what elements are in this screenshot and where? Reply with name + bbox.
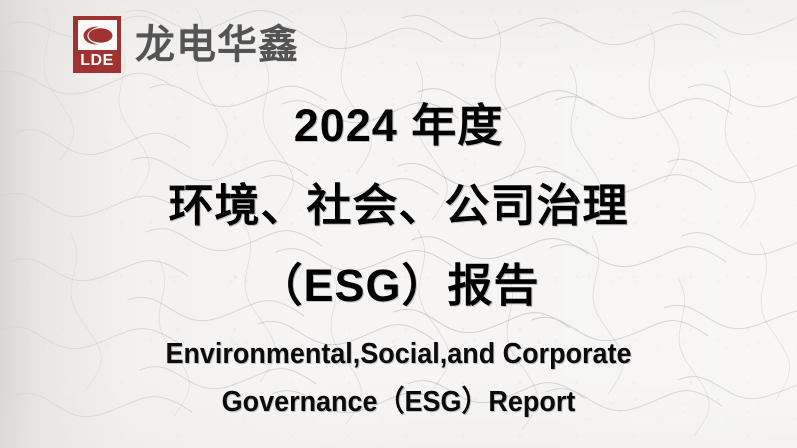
title-line-3: （ESG）报告 [0, 246, 797, 326]
title-line-2: 环境、社会、公司治理 [0, 166, 797, 246]
title-line-1: 2024 年度 [0, 86, 797, 166]
company-logo: LDE 龙电华鑫 [73, 16, 299, 73]
swoosh-oval-icon [81, 24, 114, 46]
logo-mark-panel [78, 20, 117, 50]
subtitle-line-1: Environmental,Social,and Corporate [28, 330, 769, 378]
page-title: 2024 年度 环境、社会、公司治理 （ESG）报告 [0, 86, 797, 326]
report-cover-page: LDE 龙电华鑫 2024 年度 环境、社会、公司治理 （ESG）报告 Envi… [0, 0, 797, 448]
subtitle-line-2: Governance（ESG）Report [28, 378, 769, 426]
logo-mark-text: LDE [80, 50, 114, 72]
page-subtitle: Environmental,Social,and Corporate Gover… [0, 330, 797, 426]
logo-mark: LDE [73, 16, 121, 73]
logo-wordmark: 龙电华鑫 [135, 22, 299, 68]
